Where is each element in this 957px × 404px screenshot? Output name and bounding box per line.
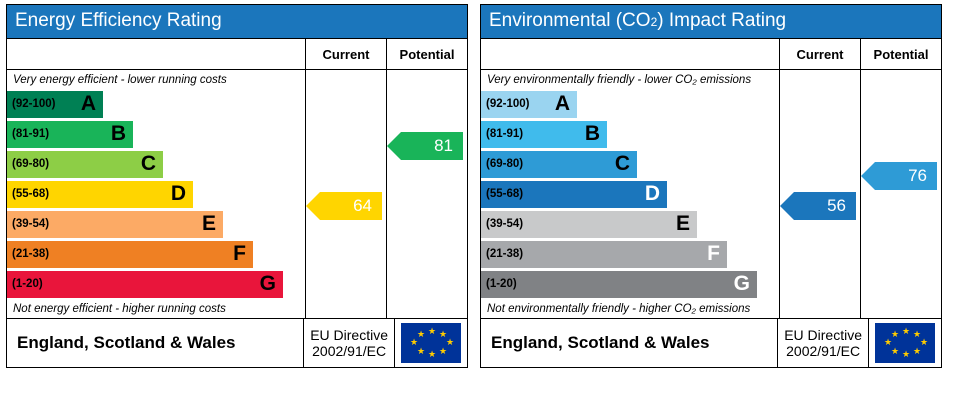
co2-chart-body: Very environmentally friendly - lower CO… xyxy=(481,70,941,318)
energy-potential-value: 81 xyxy=(434,136,453,156)
energy-band-row-f: (21-38) F xyxy=(7,239,305,269)
co2-current-value: 56 xyxy=(827,196,846,216)
co2-band-e-range: (39-54) xyxy=(486,218,523,230)
co2-band-b: (81-91) B xyxy=(481,121,607,148)
energy-band-row-c: (69-80) C xyxy=(7,149,305,179)
co2-current-arrow: 56 xyxy=(794,192,856,220)
energy-band-b-letter: B xyxy=(111,122,126,146)
energy-chart-footer: England, Scotland & Wales EU Directive 2… xyxy=(7,318,467,367)
co2-band-row-e: (39-54) E xyxy=(481,209,779,239)
co2-current-arrow-slot: 56 xyxy=(780,191,860,221)
energy-directive-line2: 2002/91/EC xyxy=(312,343,386,359)
co2-band-a-letter: A xyxy=(555,92,570,116)
co2-potential-arrow: 76 xyxy=(875,162,937,190)
energy-band-e-letter: E xyxy=(202,212,216,236)
co2-band-a-range: (92-100) xyxy=(486,98,529,110)
co2-bars-panel: Very environmentally friendly - lower CO… xyxy=(481,70,779,318)
energy-column-current: Current xyxy=(305,39,386,69)
co2-band-d-letter: D xyxy=(645,182,660,206)
environmental-impact-chart: Environmental (CO2) Impact Rating Curren… xyxy=(480,4,942,368)
energy-band-f-letter: F xyxy=(233,242,246,266)
co2-band-row-d: (55-68) D xyxy=(481,179,779,209)
co2-band-b-letter: B xyxy=(585,122,600,146)
energy-band-c: (69-80) C xyxy=(7,151,163,178)
co2-directive: EU Directive 2002/91/EC xyxy=(777,319,868,367)
co2-band-row-c: (69-80) C xyxy=(481,149,779,179)
co2-band-row-g: (1-20) G xyxy=(481,269,779,299)
co2-chart-header-row: Current Potential xyxy=(481,39,941,70)
energy-band-row-d: (55-68) D xyxy=(7,179,305,209)
co2-band-c-letter: C xyxy=(615,152,630,176)
co2-directive-line1: EU Directive xyxy=(784,327,862,343)
energy-potential-arrow-slot: 81 xyxy=(387,131,467,161)
co2-potential-value: 76 xyxy=(908,166,927,186)
energy-directive: EU Directive 2002/91/EC xyxy=(303,319,394,367)
co2-directive-line2: 2002/91/EC xyxy=(786,343,860,359)
co2-column-current: Current xyxy=(779,39,860,69)
co2-band-d-range: (55-68) xyxy=(486,188,523,200)
energy-bars-panel: Very energy efficient - lower running co… xyxy=(7,70,305,318)
energy-bottom-note: Not energy efficient - higher running co… xyxy=(7,299,305,318)
energy-header-spacer xyxy=(7,39,305,69)
energy-current-column: 64 xyxy=(305,70,386,318)
energy-band-row-g: (1-20) G xyxy=(7,269,305,299)
co2-column-potential: Potential xyxy=(860,39,941,69)
energy-band-d: (55-68) D xyxy=(7,181,193,208)
energy-band-d-range: (55-68) xyxy=(12,188,49,200)
co2-band-c: (69-80) C xyxy=(481,151,637,178)
co2-bottom-note: Not environmentally friendly - higher CO… xyxy=(481,299,779,318)
co2-eu-flag: ★★ ★★ ★★ ★★ xyxy=(868,319,941,367)
energy-current-arrow: 64 xyxy=(320,192,382,220)
energy-chart-title: Energy Efficiency Rating xyxy=(7,5,467,39)
co2-header-spacer xyxy=(481,39,779,69)
co2-potential-column: 76 xyxy=(860,70,941,318)
co2-band-a: (92-100) A xyxy=(481,91,577,118)
co2-region-label: England, Scotland & Wales xyxy=(481,319,777,367)
energy-top-note: Very energy efficient - lower running co… xyxy=(7,70,305,89)
energy-chart-title-text: Energy Efficiency Rating xyxy=(15,10,222,31)
co2-band-row-b: (81-91) B xyxy=(481,119,779,149)
co2-band-g-range: (1-20) xyxy=(486,278,517,290)
co2-top-note: Very environmentally friendly - lower CO… xyxy=(481,70,779,89)
co2-potential-arrow-slot: 76 xyxy=(861,161,941,191)
co2-band-f-letter: F xyxy=(707,242,720,266)
co2-band-e-letter: E xyxy=(676,212,690,236)
epc-charts-container: Energy Efficiency Rating Current Potenti… xyxy=(0,0,957,372)
energy-band-c-letter: C xyxy=(141,152,156,176)
energy-efficiency-chart: Energy Efficiency Rating Current Potenti… xyxy=(6,4,468,368)
energy-band-a-letter: A xyxy=(81,92,96,116)
energy-band-g: (1-20) G xyxy=(7,271,283,298)
energy-band-g-range: (1-20) xyxy=(12,278,43,290)
eu-flag-icon: ★★ ★★ ★★ ★★ xyxy=(401,323,461,363)
energy-band-d-letter: D xyxy=(171,182,186,206)
energy-region-label: England, Scotland & Wales xyxy=(7,319,303,367)
energy-band-f-range: (21-38) xyxy=(12,248,49,260)
co2-band-b-range: (81-91) xyxy=(486,128,523,140)
energy-band-e: (39-54) E xyxy=(7,211,223,238)
co2-chart-footer: England, Scotland & Wales EU Directive 2… xyxy=(481,318,941,367)
co2-band-e: (39-54) E xyxy=(481,211,697,238)
energy-chart-header-row: Current Potential xyxy=(7,39,467,70)
co2-band-c-range: (69-80) xyxy=(486,158,523,170)
energy-band-row-e: (39-54) E xyxy=(7,209,305,239)
energy-band-b: (81-91) B xyxy=(7,121,133,148)
energy-band-f: (21-38) F xyxy=(7,241,253,268)
energy-band-row-b: (81-91) B xyxy=(7,119,305,149)
co2-band-g-letter: G xyxy=(734,272,750,296)
energy-potential-column: 81 xyxy=(386,70,467,318)
energy-current-arrow-slot: 64 xyxy=(306,191,386,221)
co2-band-g: (1-20) G xyxy=(481,271,757,298)
energy-eu-flag: ★★ ★★ ★★ ★★ xyxy=(394,319,467,367)
energy-chart-body: Very energy efficient - lower running co… xyxy=(7,70,467,318)
energy-current-value: 64 xyxy=(353,196,372,216)
co2-chart-title-tail: ) Impact Rating xyxy=(657,10,786,31)
co2-chart-title: Environmental (CO2) Impact Rating xyxy=(481,5,941,39)
energy-band-c-range: (69-80) xyxy=(12,158,49,170)
energy-band-g-letter: G xyxy=(260,272,276,296)
energy-band-row-a: (92-100) A xyxy=(7,89,305,119)
energy-band-a-range: (92-100) xyxy=(12,98,55,110)
co2-chart-title-text: Environmental (CO xyxy=(489,10,651,31)
co2-band-d: (55-68) D xyxy=(481,181,667,208)
energy-directive-line1: EU Directive xyxy=(310,327,388,343)
co2-band-row-a: (92-100) A xyxy=(481,89,779,119)
energy-band-a: (92-100) A xyxy=(7,91,103,118)
co2-band-f-range: (21-38) xyxy=(486,248,523,260)
energy-band-e-range: (39-54) xyxy=(12,218,49,230)
co2-current-column: 56 xyxy=(779,70,860,318)
energy-potential-arrow: 81 xyxy=(401,132,463,160)
co2-band-row-f: (21-38) F xyxy=(481,239,779,269)
eu-flag-icon: ★★ ★★ ★★ ★★ xyxy=(875,323,935,363)
energy-band-b-range: (81-91) xyxy=(12,128,49,140)
energy-column-potential: Potential xyxy=(386,39,467,69)
co2-band-f: (21-38) F xyxy=(481,241,727,268)
